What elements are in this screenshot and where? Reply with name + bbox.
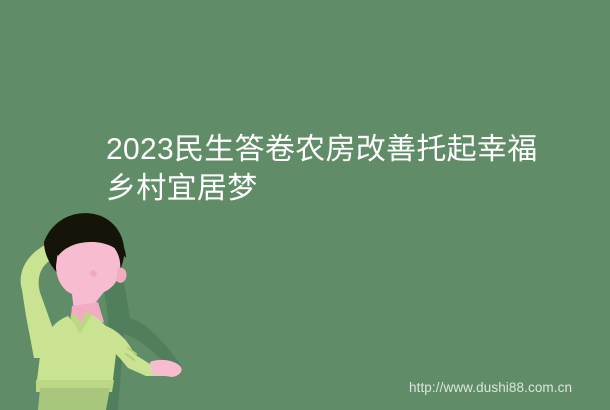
source-url-watermark: http://www.dushi88.com.cn [409, 379, 572, 396]
page-title: 2023民生答卷农房改善托起幸福乡村宜居梦 [106, 130, 552, 208]
pants-group [38, 388, 110, 410]
article-cover-banner: 2023民生答卷农房改善托起幸福乡村宜居梦 http://www.dushi88… [0, 0, 610, 410]
person-waving-illustration [0, 198, 210, 410]
